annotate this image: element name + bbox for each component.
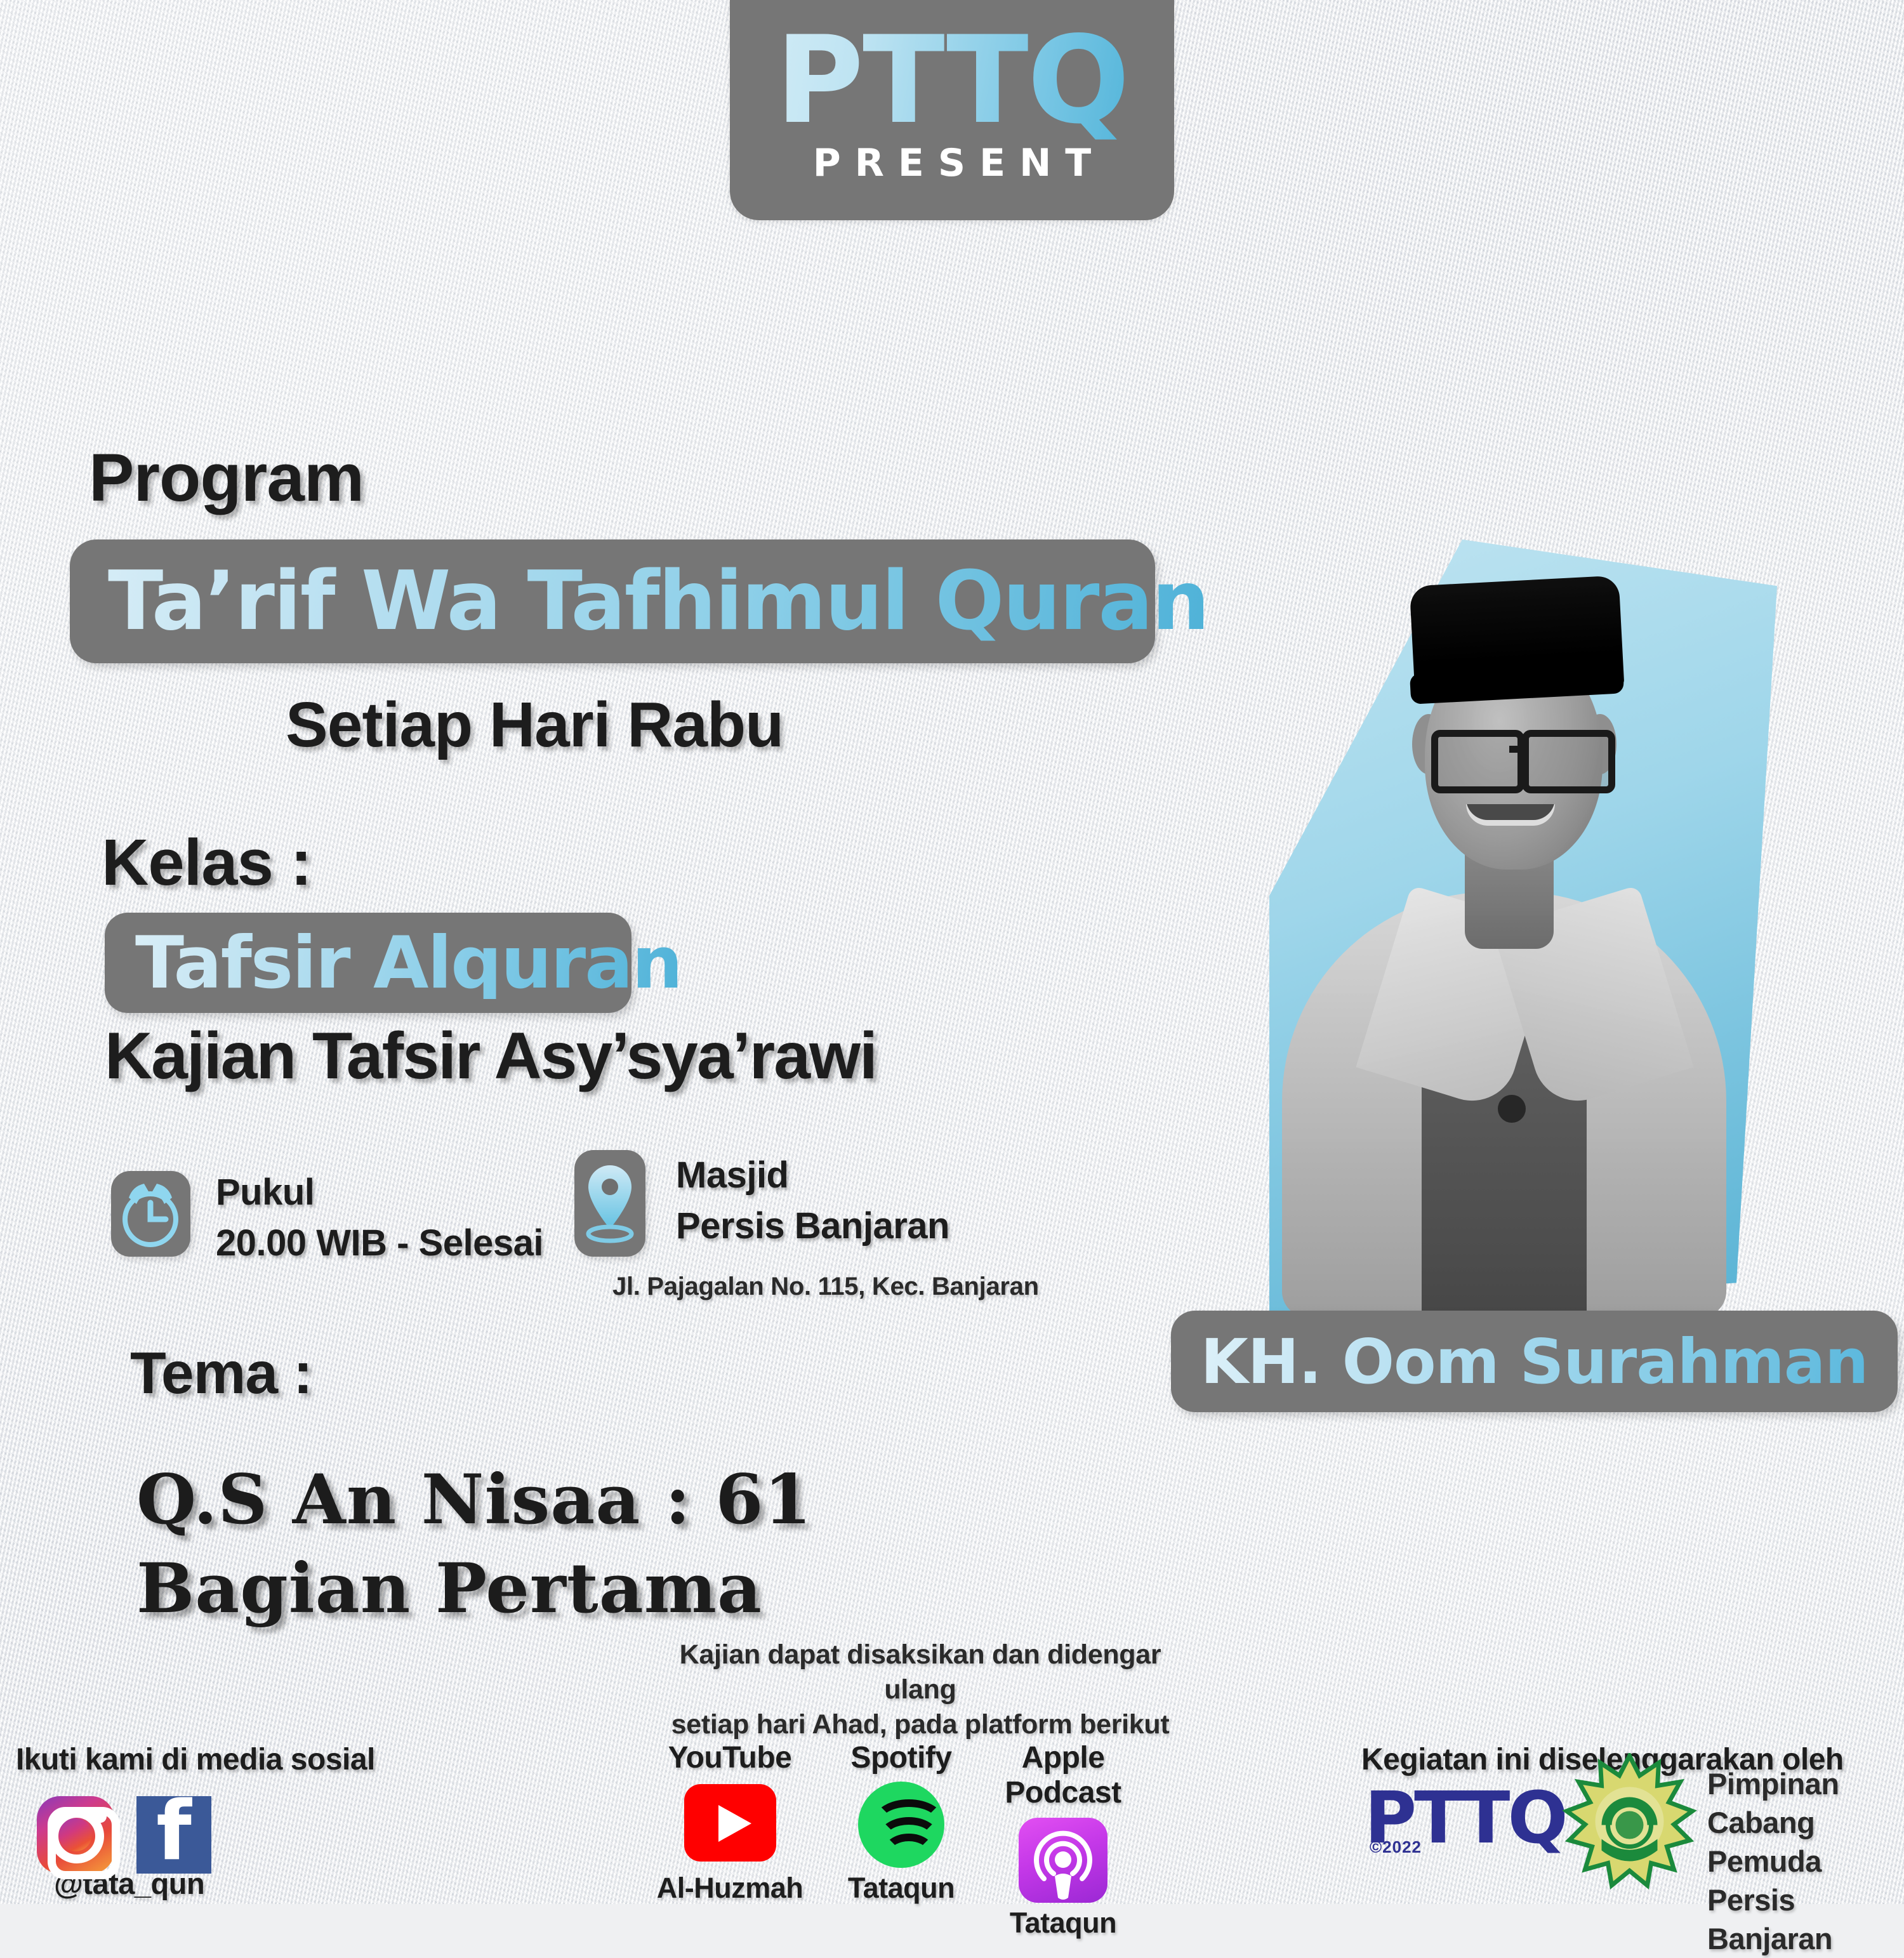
platform-handle: Tataqun <box>819 1872 984 1905</box>
instagram-icon-dot <box>94 1810 107 1823</box>
youtube-icon <box>647 1784 812 1867</box>
persis-emblem-glyph <box>1561 1753 1698 1889</box>
platform-name: Spotify <box>819 1740 984 1775</box>
replay-notice-line-1: Kajian dapat disaksikan dan didengar ula… <box>641 1637 1200 1707</box>
platform-name: Apple Podcast <box>981 1740 1146 1810</box>
apple-podcast-glyph <box>1019 1818 1107 1903</box>
kelas-value: Tafsir Alquran <box>135 927 682 999</box>
organizer-name: Pimpinan Cabang Pemuda Persis Banjaran <box>1707 1764 1904 1958</box>
apple-podcast-icon <box>981 1819 1146 1902</box>
platform-name: YouTube <box>647 1740 812 1775</box>
instagram-icon-lens <box>59 1818 92 1851</box>
platform-apple-podcast[interactable]: Apple Podcast Tataqun <box>981 1740 1146 1940</box>
organizer-name-line-3: Banjaran <box>1707 1919 1904 1958</box>
replay-notice: Kajian dapat disaksikan dan didengar ula… <box>641 1637 1200 1742</box>
platform-youtube[interactable]: YouTube Al-Huzmah <box>647 1740 812 1905</box>
platform-handle: Tataqun <box>981 1907 1146 1940</box>
organizer-name-line-2: Pemuda Persis <box>1707 1842 1904 1919</box>
location-pin-icon <box>574 1150 645 1257</box>
time-title: Pukul <box>216 1171 314 1214</box>
location-pin-glyph <box>574 1150 645 1257</box>
alarm-clock-glyph <box>111 1171 190 1257</box>
tema-line-2: Bagian Pertama <box>136 1549 762 1629</box>
organizer-name-line-1: Pimpinan Cabang <box>1707 1764 1904 1842</box>
tema-line-1: Q.S An Nisaa : 61 <box>136 1460 812 1540</box>
location-value: Persis Banjaran <box>676 1205 949 1247</box>
tema-label: Tema : <box>130 1339 312 1407</box>
program-label: Program <box>89 438 364 517</box>
kelas-banner: Tafsir Alquran <box>105 913 631 1013</box>
facebook-icon-glyph: f <box>136 1796 211 1874</box>
pttq-present-header: PTTQ PRESENT <box>730 0 1174 220</box>
time-value: 20.00 WIB - Selesai <box>216 1222 543 1264</box>
pttq-logo-text: PTTQ <box>730 20 1174 141</box>
kelas-label: Kelas : <box>102 825 312 900</box>
program-title-banner: Ta’rif Wa Tafhimul Quran <box>70 539 1155 663</box>
platform-handle: Al-Huzmah <box>647 1872 812 1905</box>
speaker-photo <box>1263 505 1745 1311</box>
kajian-title: Kajian Tafsir Asy’sya’rawi <box>105 1019 876 1094</box>
speaker-name-banner: KH. Oom Surahman <box>1171 1311 1898 1412</box>
speaker-name: KH. Oom Surahman <box>1201 1331 1868 1392</box>
spotify-icon <box>819 1784 984 1867</box>
program-schedule: Setiap Hari Rabu <box>286 689 783 762</box>
location-title: Masjid <box>676 1154 789 1196</box>
platform-spotify[interactable]: Spotify Tataqun <box>819 1740 984 1905</box>
program-title: Ta’rif Wa Tafhimul Quran <box>108 561 1208 642</box>
social-heading: Ikuti kami di media sosial <box>16 1742 375 1777</box>
organizer-copyright: ©2022 <box>1370 1837 1422 1857</box>
location-address: Jl. Pajagalan No. 115, Kec. Banjaran <box>612 1273 1039 1301</box>
present-label: PRESENT <box>730 141 1174 185</box>
alarm-clock-icon <box>111 1171 190 1257</box>
replay-notice-line-2: setiap hari Ahad, pada platform berikut <box>641 1707 1200 1742</box>
persis-star-emblem <box>1561 1753 1698 1889</box>
